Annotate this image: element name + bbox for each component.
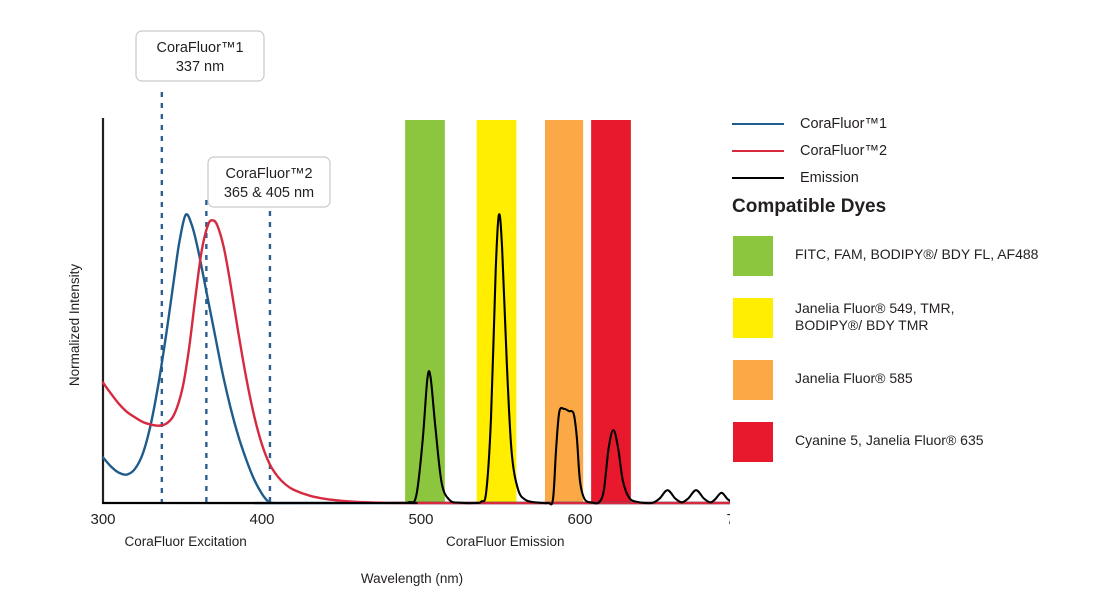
x-tick-labels-group: 300400500600700 xyxy=(90,511,730,528)
dye-color-swatch xyxy=(733,360,773,400)
green-band xyxy=(405,120,445,503)
dye-item: FITC, FAM, BODIPY®/ BDY FL, AF488 xyxy=(730,236,1106,276)
dye-item: Cyanine 5, Janelia Fluor® 635 xyxy=(730,422,1106,462)
compatible-dyes-heading: Compatible Dyes xyxy=(732,196,1106,218)
callout-value-2: 365 & 405 nm xyxy=(224,185,314,201)
dye-color-swatch xyxy=(733,236,773,276)
dye-label-line2: BODIPY®/ BDY TMR xyxy=(795,317,954,334)
dye-color-swatch xyxy=(733,298,773,338)
region-labels-group: CoraFluor ExcitationCoraFluor Emission xyxy=(125,534,565,549)
compatible-dyes-list: FITC, FAM, BODIPY®/ BDY FL, AF488Janelia… xyxy=(730,236,1106,462)
x-tick-label-500: 500 xyxy=(408,511,433,528)
legend-item-label: Emission xyxy=(800,170,859,186)
y-axis-title: Normalized Intensity xyxy=(67,264,82,387)
legend-item-corafluor1: CoraFluor™1 xyxy=(730,110,1100,137)
x-tick-label-600: 600 xyxy=(567,511,592,528)
callout-value-1: 337 nm xyxy=(176,59,224,75)
dye-label: Janelia Fluor® 549, TMR,BODIPY®/ BDY TMR xyxy=(795,298,954,334)
dye-label: FITC, FAM, BODIPY®/ BDY FL, AF488 xyxy=(795,236,1038,263)
legend-line-swatch xyxy=(732,150,784,152)
legend-item-corafluor2: CoraFluor™2 xyxy=(730,137,1100,164)
region-label-excitation: CoraFluor Excitation xyxy=(125,534,247,549)
legend-line-swatch xyxy=(732,123,784,125)
callout-2: CoraFluor™2365 & 405 nm xyxy=(208,157,330,207)
region-label-emission: CoraFluor Emission xyxy=(446,534,565,549)
legend-item-label: CoraFluor™2 xyxy=(800,143,887,159)
dye-label-line1: Janelia Fluor® 549, TMR, xyxy=(795,300,954,317)
legend-line-swatch xyxy=(732,177,784,179)
x-tick-label-300: 300 xyxy=(90,511,115,528)
right-panel: CoraFluor™1CoraFluor™2Emission Compatibl… xyxy=(730,0,1110,612)
callout-1: CoraFluor™1337 nm xyxy=(136,31,264,81)
marker-lines-group xyxy=(162,92,270,503)
chart-area: 300400500600700CoraFluor ExcitationCoraF… xyxy=(0,0,730,612)
spectra-chart: 300400500600700CoraFluor ExcitationCoraF… xyxy=(0,0,730,612)
dye-label-line1: FITC, FAM, BODIPY®/ BDY FL, AF488 xyxy=(795,246,1038,263)
red-band xyxy=(591,120,631,503)
callout-title-2: CoraFluor™2 xyxy=(225,166,312,182)
dye-label: Cyanine 5, Janelia Fluor® 635 xyxy=(795,422,984,449)
dye-label-line1: Janelia Fluor® 585 xyxy=(795,370,913,387)
callouts-group: CoraFluor™1337 nmCoraFluor™2365 & 405 nm xyxy=(136,31,330,207)
legend-item-label: CoraFluor™1 xyxy=(800,116,887,132)
dye-label: Janelia Fluor® 585 xyxy=(795,360,913,387)
series-legend: CoraFluor™1CoraFluor™2Emission xyxy=(730,110,1100,191)
dye-item: Janelia Fluor® 585 xyxy=(730,360,1106,400)
compatible-dyes-section: Compatible Dyes FITC, FAM, BODIPY®/ BDY … xyxy=(730,196,1106,484)
legend-item-emission: Emission xyxy=(730,164,1100,191)
figure-root: 300400500600700CoraFluor ExcitationCoraF… xyxy=(0,0,1110,612)
dye-color-swatch xyxy=(733,422,773,462)
x-tick-label-400: 400 xyxy=(249,511,274,528)
dye-item: Janelia Fluor® 549, TMR,BODIPY®/ BDY TMR xyxy=(730,298,1106,338)
x-axis-title: Wavelength (nm) xyxy=(361,571,463,586)
dye-bands-group xyxy=(405,120,631,503)
callout-title-1: CoraFluor™1 xyxy=(156,40,243,56)
dye-label-line1: Cyanine 5, Janelia Fluor® 635 xyxy=(795,432,984,449)
